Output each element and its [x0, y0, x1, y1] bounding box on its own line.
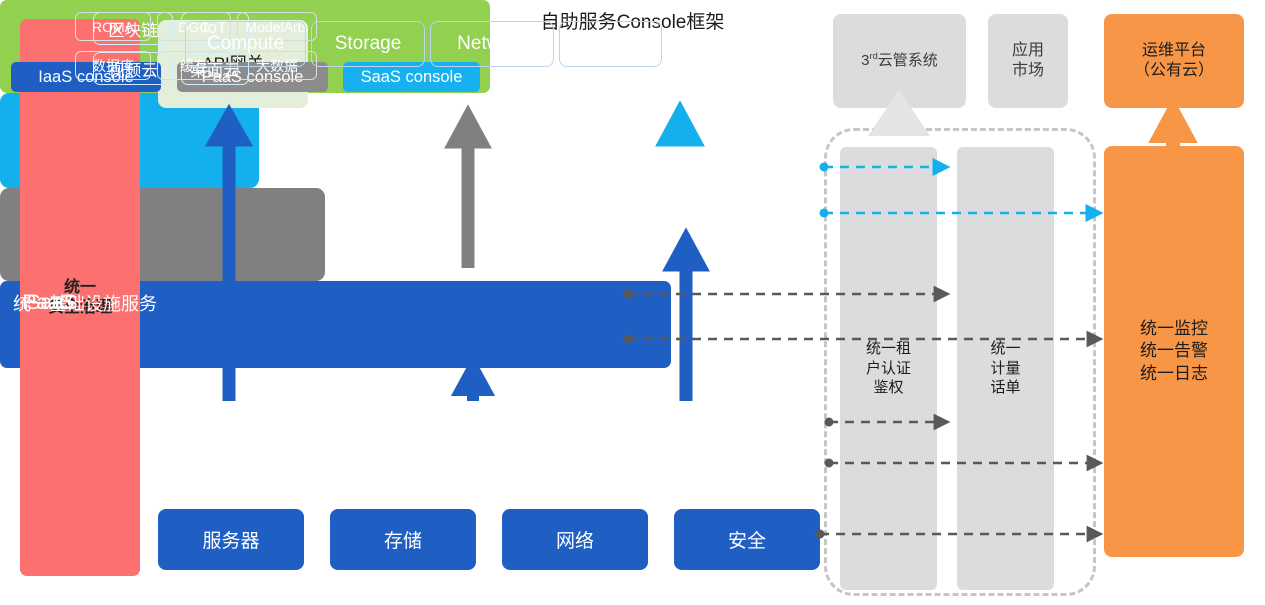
- unified-monitoring-panel: 统一监控统一告警统一日志: [1104, 146, 1244, 557]
- unified-infrastructure-bar: 统一基础设施服务 Compute Storage Network CCE: [0, 281, 671, 368]
- infrastructure-service-pill[interactable]: CCE: [559, 21, 662, 67]
- architecture-diagram: 统一安全治理 API网关 自助服务Console框架 IaaS console …: [0, 0, 1265, 605]
- unified-metering-column: 统一计量话单: [957, 147, 1054, 590]
- resource-box: 存储: [330, 509, 476, 570]
- app-market-box: 应用市场: [988, 14, 1068, 108]
- resource-box: 安全: [674, 509, 820, 570]
- unified-tenant-auth-column: 统一租户认证鉴权: [840, 147, 937, 590]
- arrow-to-ops-platform: [1160, 112, 1186, 146]
- arrow-infra-to-saas: [673, 241, 699, 401]
- arrow-saas-to-console: [666, 114, 694, 144]
- infrastructure-service-pill[interactable]: Network: [430, 21, 554, 67]
- ops-platform-public-cloud-box: 运维平台（公有云）: [1104, 14, 1244, 108]
- third-party-cloud-management-box: 3rd云管系统: [833, 14, 966, 108]
- infrastructure-service-pill[interactable]: Storage: [311, 21, 425, 67]
- infrastructure-label: 统一基础设施服务: [13, 0, 157, 605]
- ordinal-superscript: rd: [870, 51, 878, 61]
- arrow-infra-to-paas: [461, 368, 485, 401]
- infrastructure-service-pill[interactable]: Compute: [185, 21, 306, 67]
- resource-box: 服务器: [158, 509, 304, 570]
- third-party-label: 3rd云管系统: [861, 51, 938, 70]
- resource-box: 网络: [502, 509, 648, 570]
- arrow-paas-to-console: [455, 118, 481, 268]
